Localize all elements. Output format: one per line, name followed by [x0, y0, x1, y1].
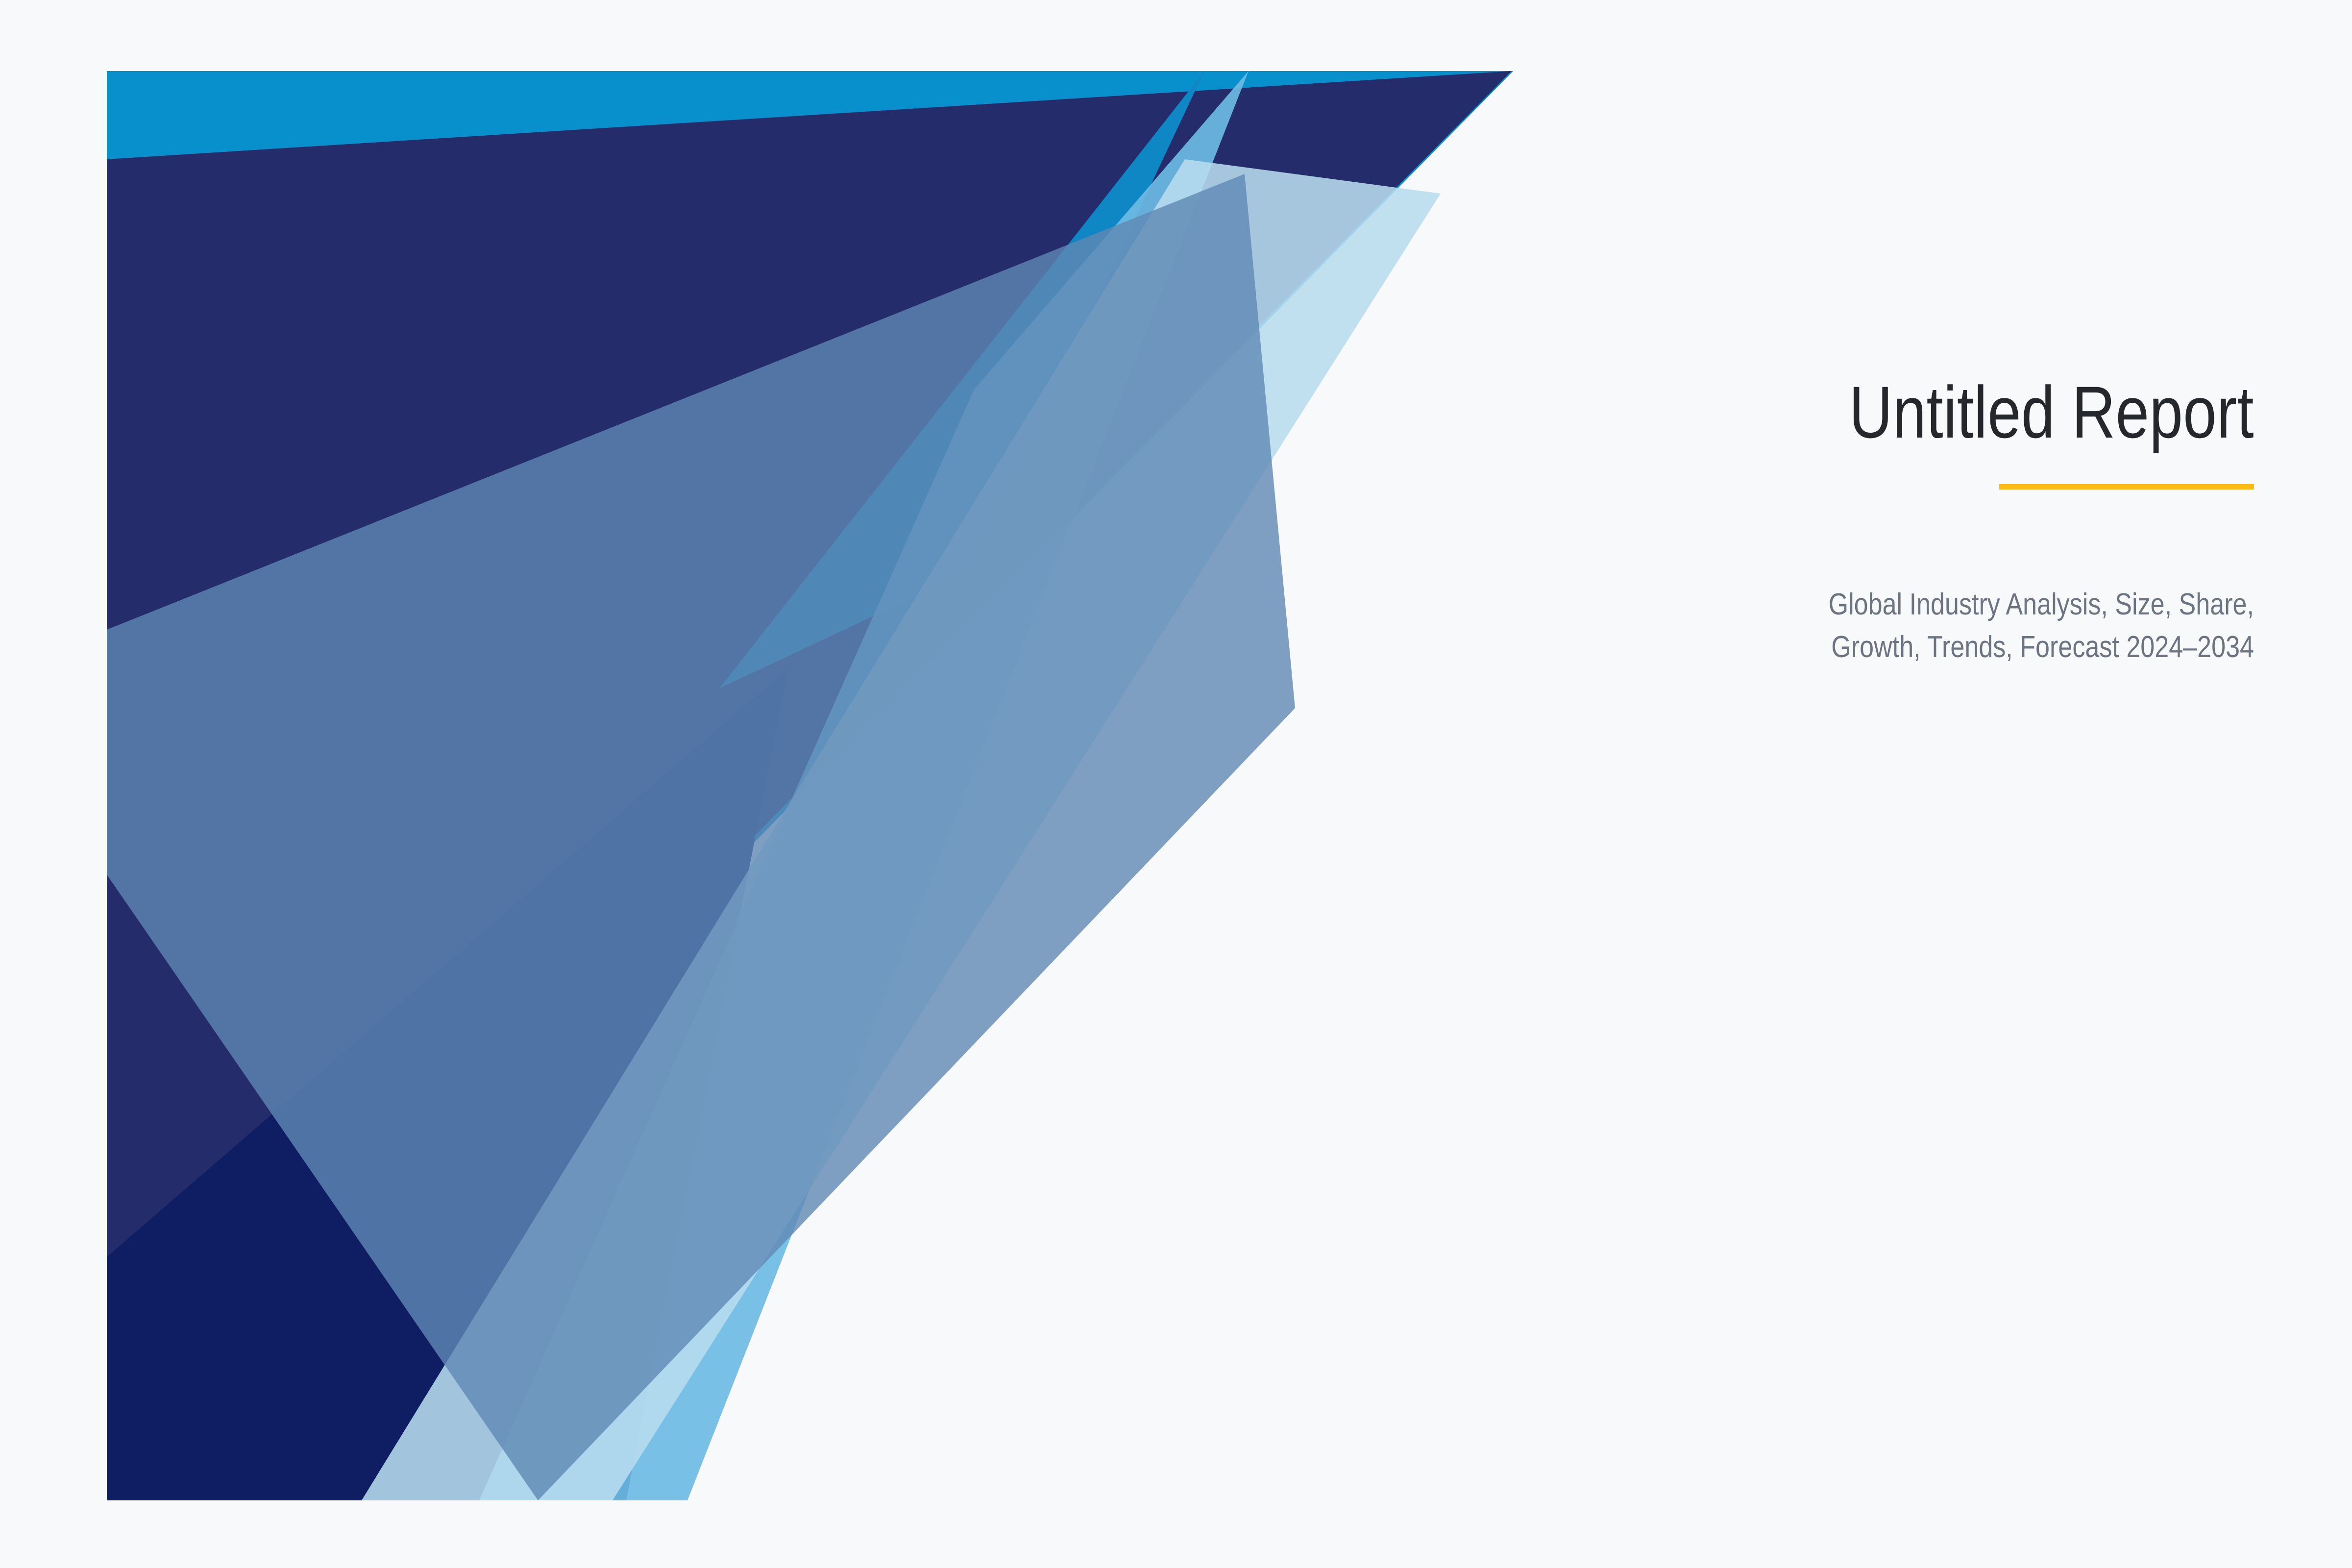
report-cover-page: Untitled Report Global Industry Analysis… [0, 0, 2352, 1568]
accent-rule [1999, 484, 2254, 490]
title-rule-container [1617, 484, 2254, 490]
title-block: Untitled Report Global Industry Analysis… [1617, 372, 2254, 669]
cover-artwork [107, 71, 1513, 1500]
page-subtitle-line-2: Growth, Trends, Forecast 2024–2034 [1719, 626, 2254, 669]
artwork-svg [107, 71, 1513, 1500]
page-subtitle: Global Industry Analysis, Size, Share, G… [1719, 584, 2254, 669]
page-title: Untitled Report [1732, 372, 2254, 452]
page-subtitle-line-1: Global Industry Analysis, Size, Share, [1719, 584, 2254, 626]
